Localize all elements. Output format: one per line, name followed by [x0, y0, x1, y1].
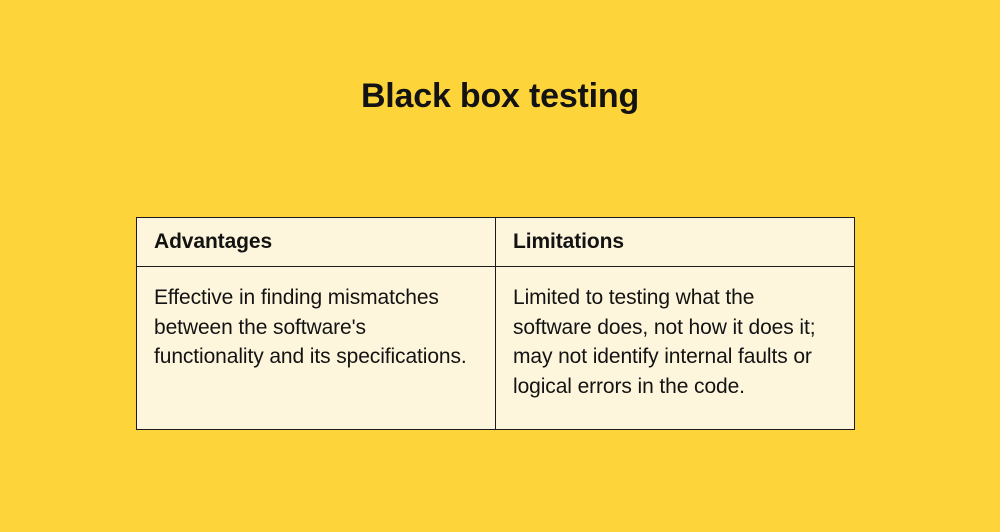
page-title: Black box testing: [0, 74, 1000, 118]
column-header-limitations: Limitations: [496, 218, 855, 267]
table-header-row: Advantages Limitations: [137, 218, 855, 267]
table-row: Effective in finding mismatches between …: [137, 267, 855, 430]
cell-advantages: Effective in finding mismatches between …: [137, 267, 496, 430]
slide-canvas: Black box testing Advantages Limitations…: [0, 0, 1000, 532]
table-header: Advantages Limitations: [137, 218, 855, 267]
comparison-table: Advantages Limitations Effective in find…: [136, 217, 855, 430]
cell-limitations: Limited to testing what the software doe…: [496, 267, 855, 430]
column-header-advantages: Advantages: [137, 218, 496, 267]
table-body: Effective in finding mismatches between …: [137, 267, 855, 430]
